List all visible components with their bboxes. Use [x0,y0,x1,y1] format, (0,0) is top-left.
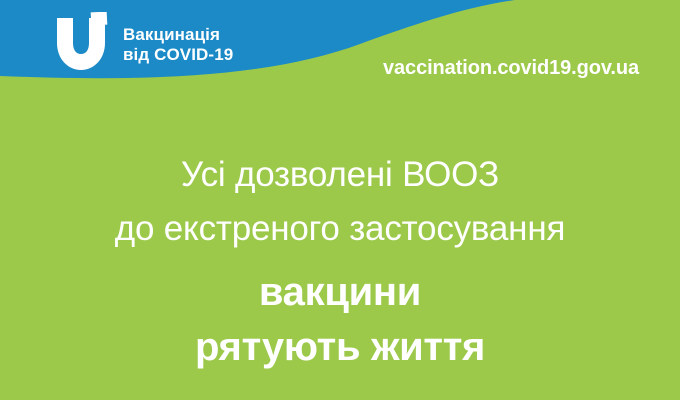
vaccination-v-logo-icon [55,12,113,72]
message-line-3: вакцини [0,256,680,320]
message-line-4: рятують життя [0,320,680,375]
logo-wordmark: Вакцинація від COVID-19 [123,25,233,72]
message-block: Усі дозволені ВООЗ до екстреного застосу… [0,148,680,375]
vaccination-promo-banner: Вакцинація від COVID-19 vaccination.covi… [0,0,680,400]
website-url[interactable]: vaccination.covid19.gov.ua [383,57,639,80]
message-line-2: до екстреного застосування [0,202,680,256]
logo-line-2: від COVID-19 [123,45,233,66]
logo-line-1: Вакцинація [123,25,233,46]
logo-lockup: Вакцинація від COVID-19 [55,12,233,72]
logo-dot-icon [91,12,108,25]
message-line-1: Усі дозволені ВООЗ [0,148,680,202]
